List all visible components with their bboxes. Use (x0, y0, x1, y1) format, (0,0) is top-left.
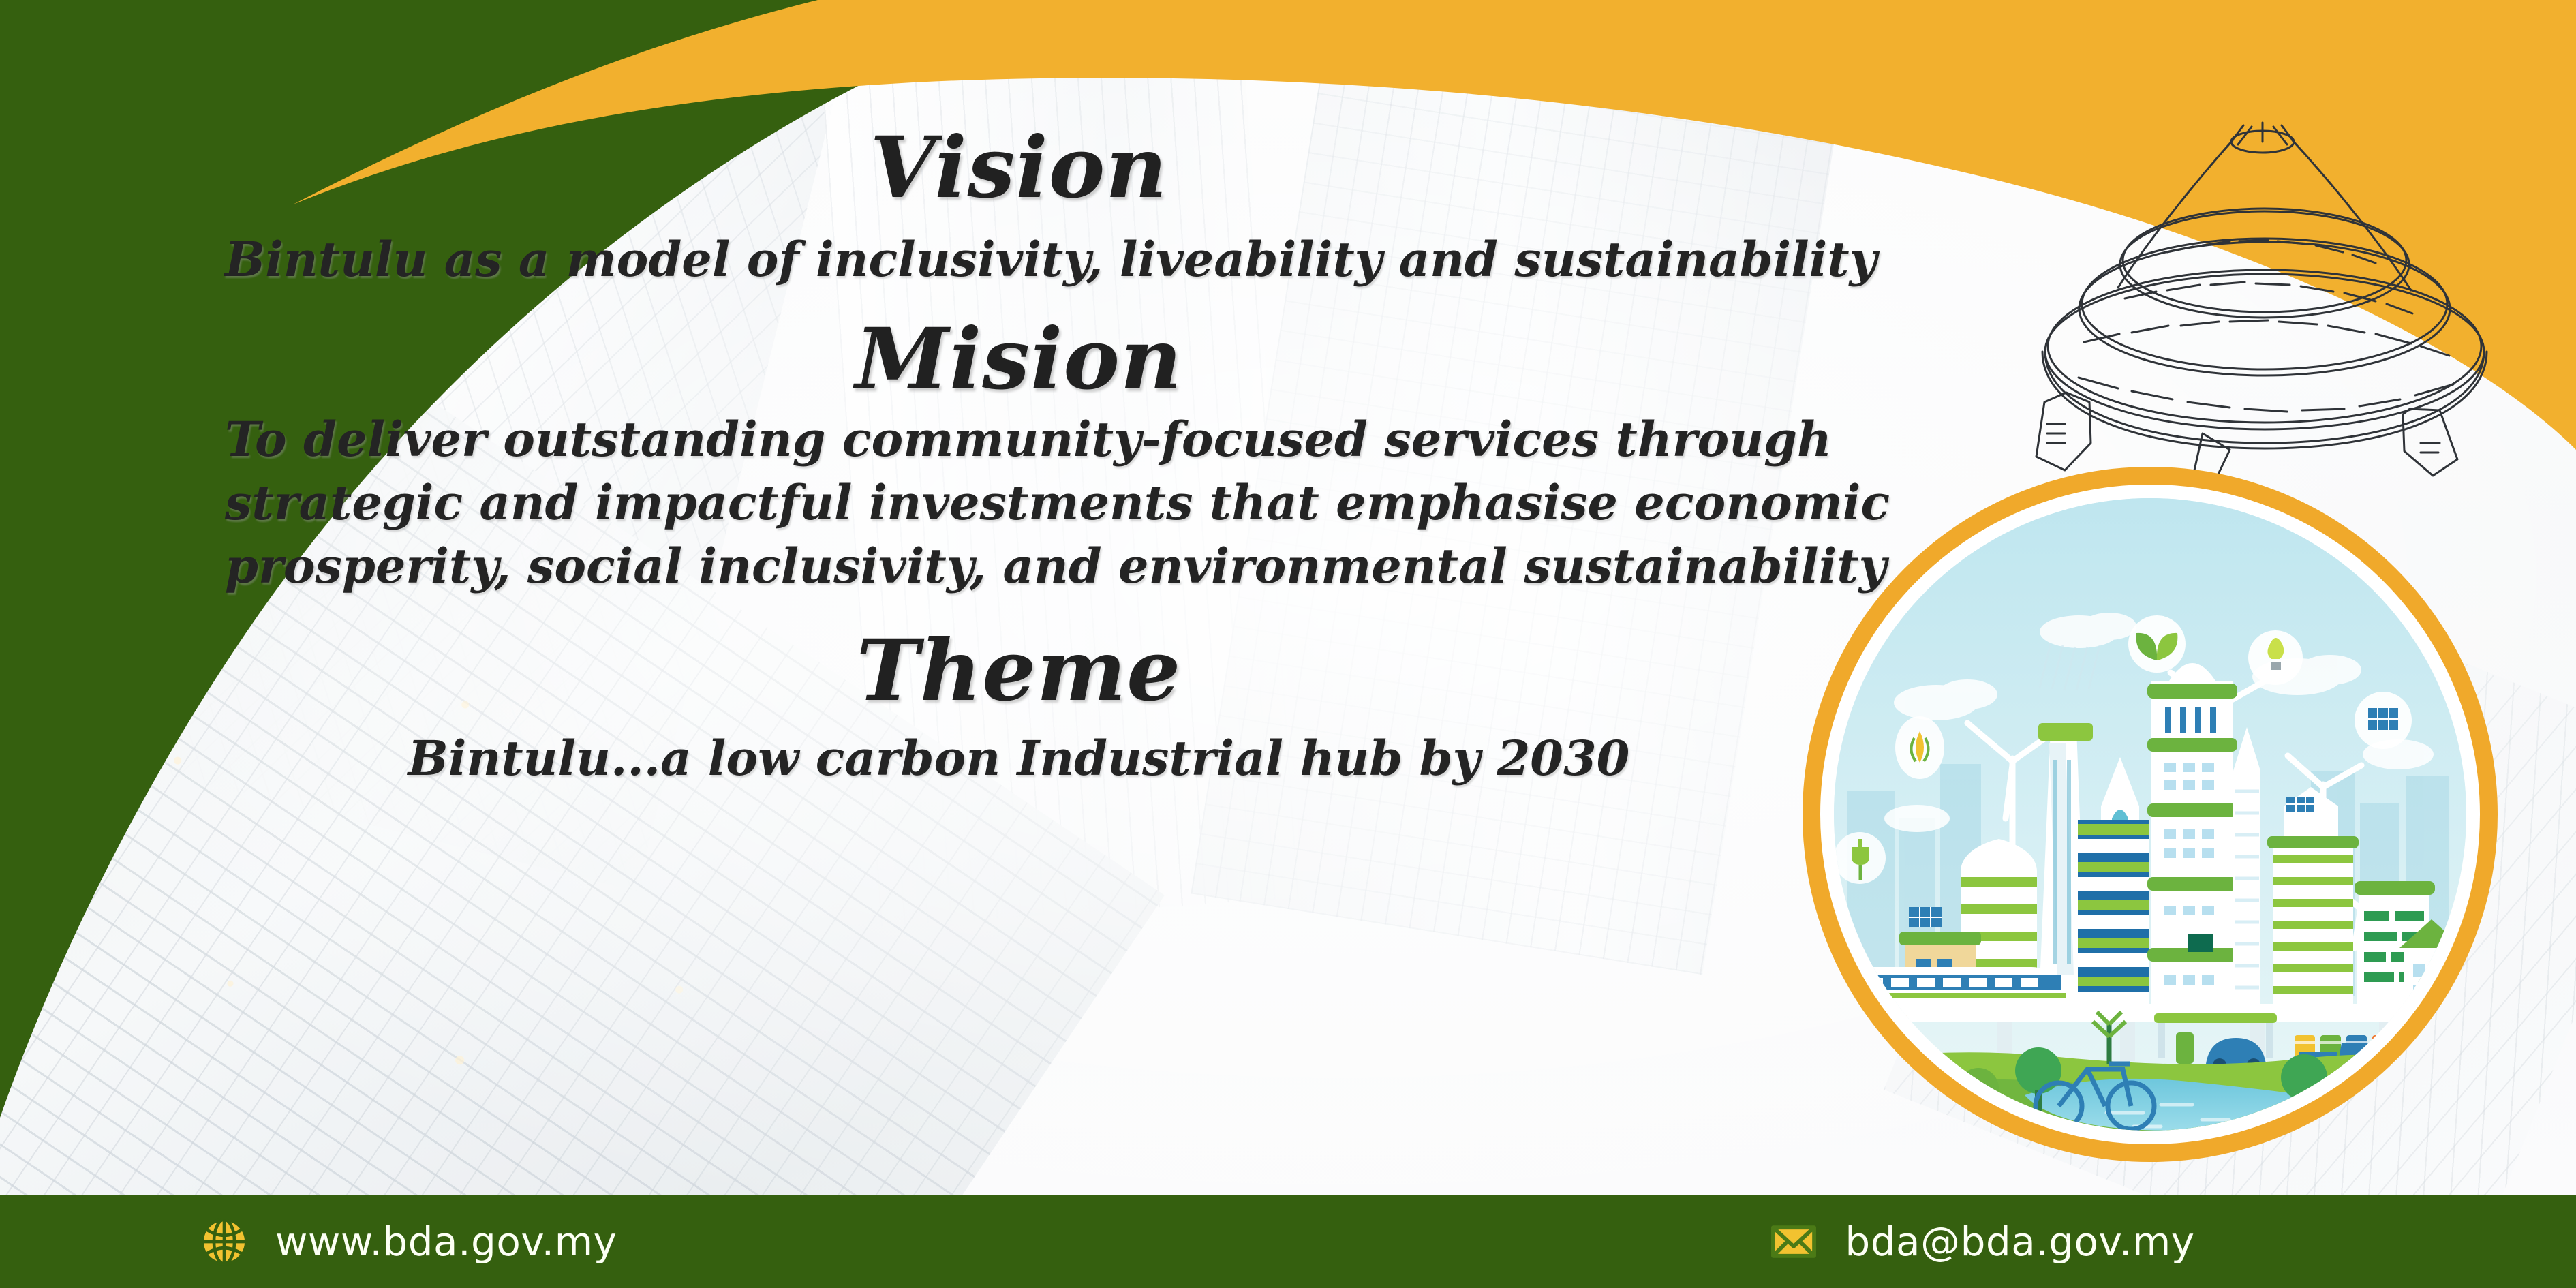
footer-email[interactable]: bda@bda.gov.my (1768, 1216, 2194, 1267)
envelope-icon (1768, 1216, 1819, 1267)
vision-line-1: Bintulu as a model of inclusivity, livea… (225, 232, 1813, 288)
banner-text-content: Vision Bintulu as a model of inclusivity… (225, 123, 1813, 787)
section-mision: Mision To deliver outstanding community-… (225, 314, 1813, 595)
eco-city-illustration (1834, 498, 2466, 1131)
theme-line-1: Bintulu...a low carbon Industrial hub by… (225, 731, 1813, 787)
email-address[interactable]: bda@bda.gov.my (1845, 1218, 2194, 1265)
eco-city-circle (1803, 467, 2498, 1162)
mision-heading: Mision (225, 314, 1813, 405)
vision-mission-theme-banner: Vision Bintulu as a model of inclusivity… (0, 0, 2576, 1288)
mision-line-1: To deliver outstanding community-focused… (225, 412, 1813, 468)
website-url[interactable]: www.bda.gov.my (275, 1218, 617, 1265)
mision-line-2: strategic and impactful investments that… (225, 475, 1813, 532)
globe-icon (199, 1216, 249, 1267)
theme-heading: Theme (225, 626, 1813, 717)
mision-line-3: prosperity, social inclusivity, and envi… (225, 538, 1813, 595)
footer-website[interactable]: www.bda.gov.my (199, 1216, 617, 1267)
eco-city-svg (1834, 498, 2466, 1131)
vision-heading: Vision (225, 123, 1813, 214)
footer-bar: www.bda.gov.my bda@bda.gov.my (0, 1195, 2576, 1288)
bintulu-dome-landmark-icon (1963, 102, 2562, 484)
section-theme: Theme Bintulu...a low carbon Industrial … (225, 626, 1813, 787)
section-vision: Vision Bintulu as a model of inclusivity… (225, 123, 1813, 288)
